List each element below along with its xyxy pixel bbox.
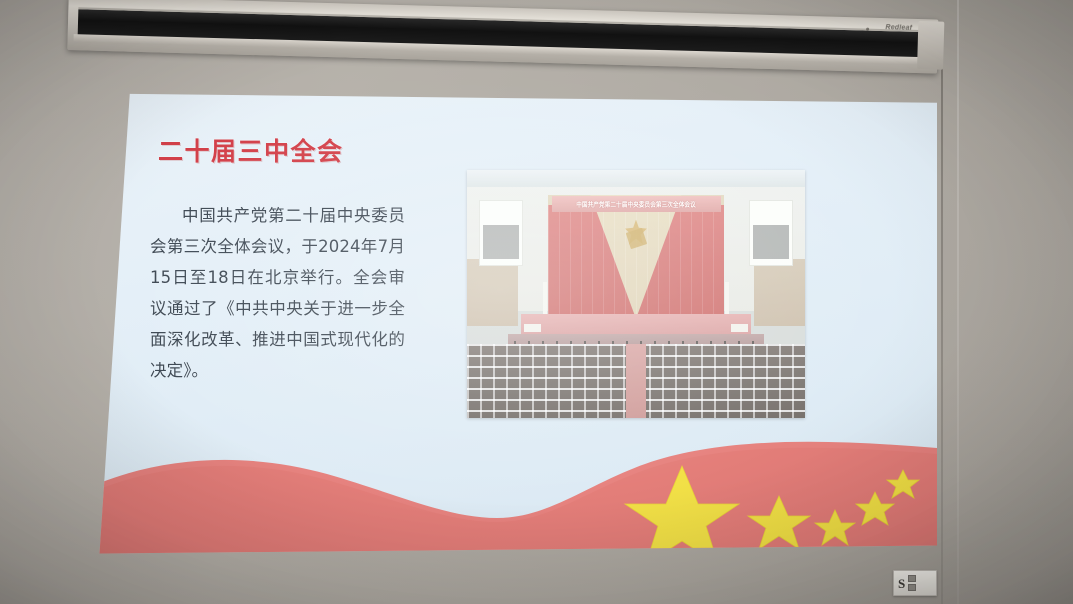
plate-socket-holes-icon: [908, 575, 916, 591]
photo-ceiling: [467, 170, 805, 187]
photo-stage-floor: [521, 314, 751, 334]
wall-socket-plate[interactable]: S: [893, 570, 937, 596]
wall-seam-line: [941, 36, 943, 604]
photo-banner: 中国共产党第二十届中央委员会第三次全体会议: [552, 196, 721, 212]
conference-hall-photo: 中国共产党第二十届中央委员会第三次全体会议: [467, 170, 805, 418]
photo-center-aisle: [626, 344, 646, 418]
photo-wall-panel-left: [479, 200, 523, 266]
slide-title: 二十届三中全会: [158, 132, 344, 168]
photo-wood-panel-left: [467, 259, 518, 326]
photo-podium-left: [524, 324, 541, 333]
classroom-photo-frame: Redleaf 二十届三中全会 中国共产党第二十届中央委员会第三次全体会议，于2…: [0, 0, 1073, 604]
slide-inner: 二十届三中全会 中国共产党第二十届中央委员会第三次全体会议，于2024年7月15…: [97, 92, 937, 562]
photo-wood-panel-right: [754, 259, 805, 326]
plate-symbol: S: [898, 577, 905, 590]
roller-endcap: [917, 21, 944, 70]
photo-banner-text: 中国共产党第二十届中央委员会第三次全体会议: [576, 199, 696, 208]
projected-slide: 二十届三中全会 中国共产党第二十届中央委员会第三次全体会议，于2024年7月15…: [97, 92, 937, 562]
projector-brand-label: Redleaf: [885, 24, 912, 32]
slide-body-text: 中国共产党第二十届中央委员会第三次全体会议，于2024年7月15日至18日在北京…: [150, 200, 405, 386]
photo-podium-right: [731, 324, 748, 333]
red-wave-decoration: [97, 422, 937, 562]
wall-seam-line-secondary: [957, 0, 959, 604]
photo-wall-panel-right: [749, 200, 793, 266]
brand-dot-icon: [866, 28, 869, 31]
